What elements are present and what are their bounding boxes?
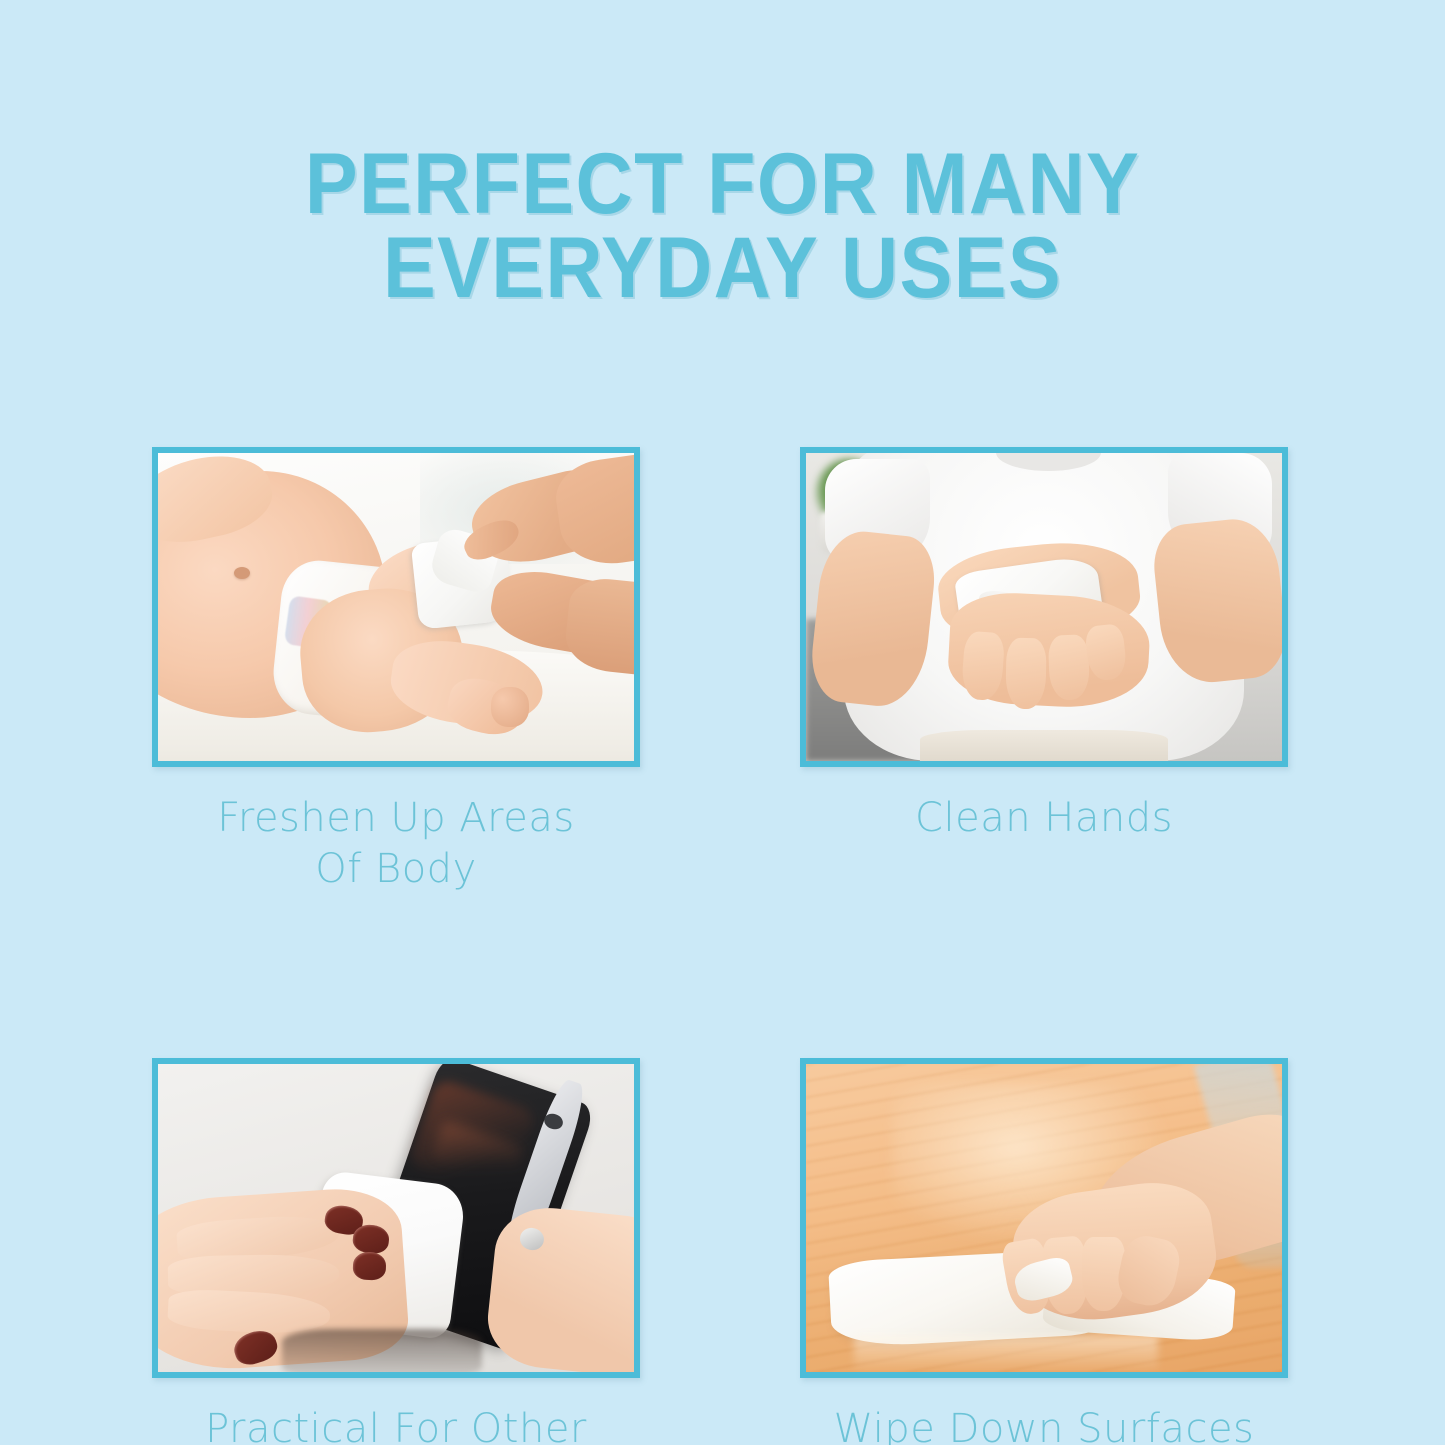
use-case-grid: Freshen Up Areas Of Body [152,447,1288,1445]
photo-frame-practical-for-other-application [152,1058,640,1378]
trousers-waist [920,730,1168,761]
baby-toes [491,687,529,727]
photo-frame-clean-hands [800,447,1288,767]
photo-cleaning-hands [806,453,1282,761]
photo-baby-diaper-change [158,453,634,761]
page-title: PERFECT FOR MANY EVERYDAY USES [58,142,1387,311]
use-case-card-freshen-up-areas-of-body: Freshen Up Areas Of Body [152,447,640,895]
use-case-card-practical-for-other-application: Practical For Other Application [152,1058,640,1445]
photo-wiping-smartphone [158,1064,634,1372]
caption-line-2: Of Body [152,844,640,895]
use-case-card-clean-hands: Clean Hands [800,447,1288,895]
use-case-row-top: Freshen Up Areas Of Body [152,447,1288,895]
caption-line-1: Practical For Other [152,1404,640,1445]
hand-holding-phone [483,1203,634,1373]
page-title-line-1: PERFECT FOR MANY [58,142,1387,226]
use-case-caption-wipe-down-surfaces: Wipe Down Surfaces [800,1404,1288,1445]
nail-polish-3 [353,1252,387,1281]
caption-line-1: Wipe Down Surfaces [800,1404,1288,1445]
use-case-card-wipe-down-surfaces: Wipe Down Surfaces [800,1058,1288,1445]
caption-line-1: Freshen Up Areas [152,793,640,844]
photo-wiping-table-surface [806,1064,1282,1372]
table-reflection [854,1335,1159,1372]
use-case-caption-practical-for-other-application: Practical For Other Application [152,1404,640,1445]
photo-frame-wipe-down-surfaces [800,1058,1288,1378]
use-case-caption-clean-hands: Clean Hands [800,793,1288,844]
baby-navel [234,567,250,579]
use-case-caption-freshen-up-areas-of-body: Freshen Up Areas Of Body [152,793,640,895]
finger-2 [1005,637,1047,709]
page-title-line-2: EVERYDAY USES [58,226,1387,310]
use-case-row-bottom: Practical For Other Application [152,1058,1288,1445]
caption-line-1: Clean Hands [800,793,1288,844]
photo-frame-freshen-up-areas-of-body [152,447,640,767]
finger-3 [1048,634,1091,700]
photo-shadow [282,1329,482,1372]
